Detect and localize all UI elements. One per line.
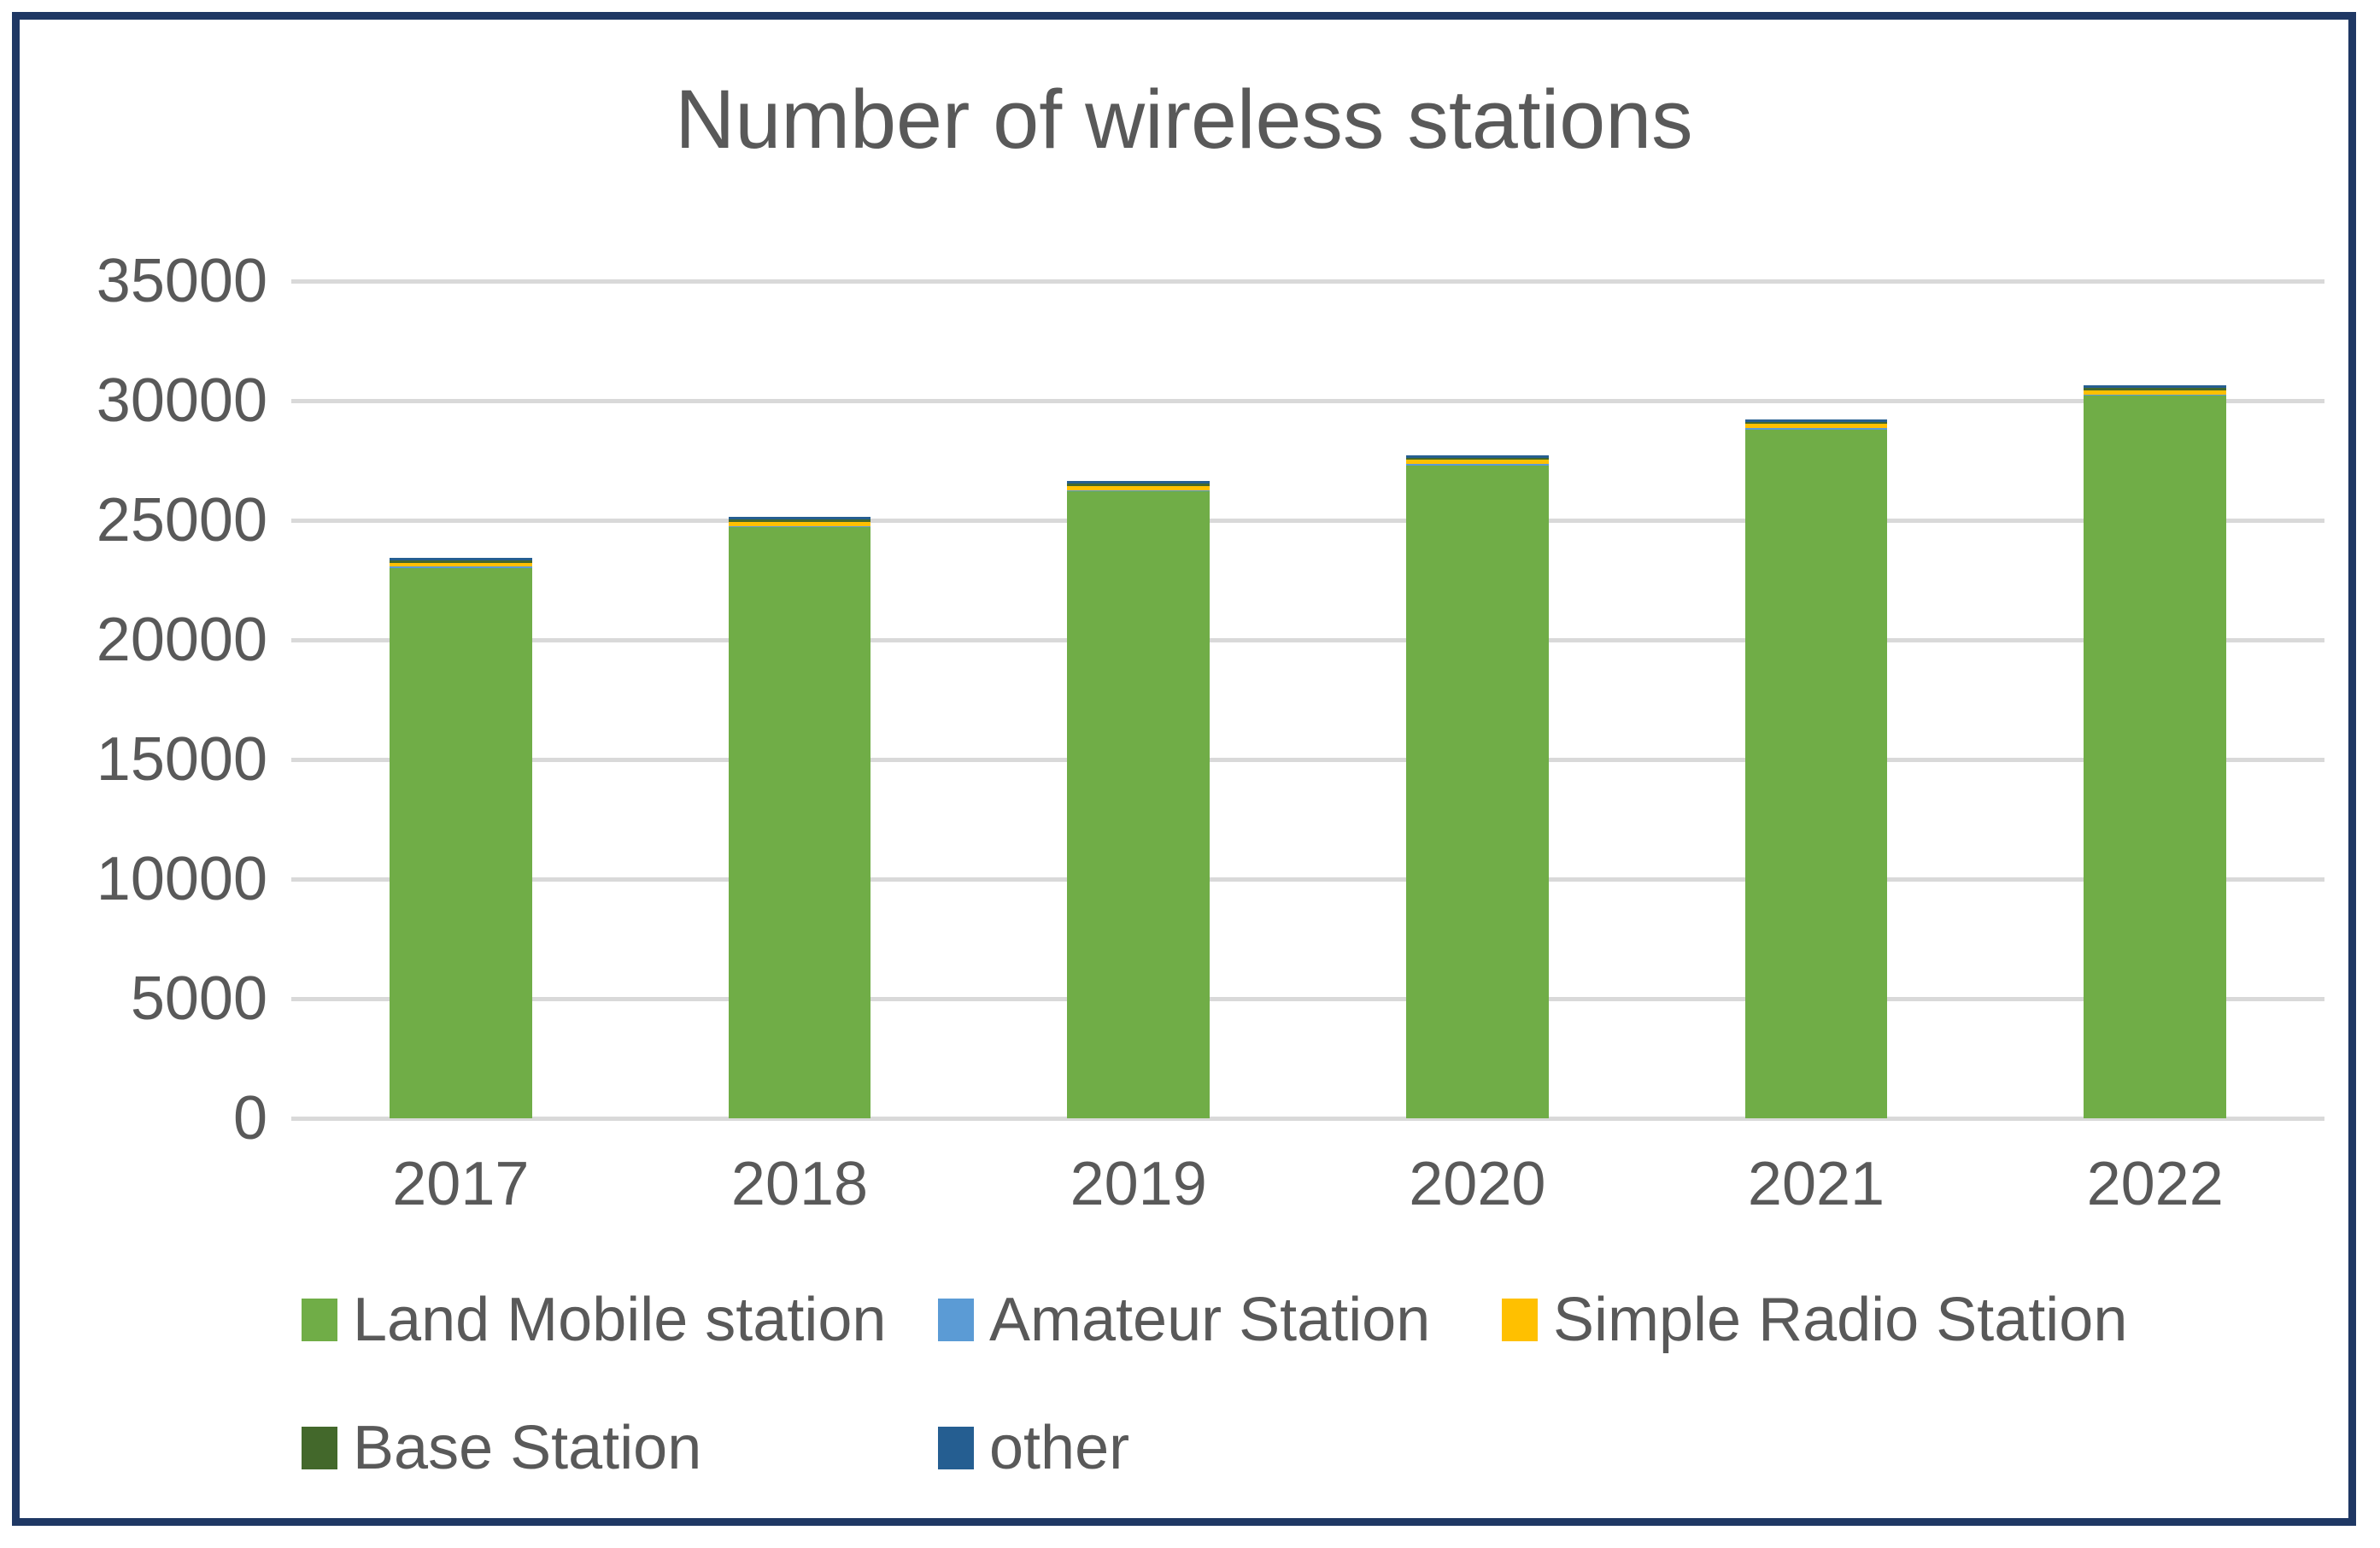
gridline bbox=[291, 519, 2324, 523]
x-axis-tick-label: 2017 bbox=[392, 1149, 529, 1219]
legend-item[interactable]: other bbox=[938, 1417, 1129, 1479]
gridline bbox=[291, 638, 2324, 642]
gridline bbox=[291, 279, 2324, 284]
legend-item[interactable]: Base Station bbox=[302, 1417, 701, 1479]
y-axis-tick-label: 0 bbox=[71, 1083, 267, 1153]
y-axis-tick-label: 10000 bbox=[71, 844, 267, 914]
bar-stack[interactable] bbox=[390, 558, 532, 1118]
y-axis-tick-label: 5000 bbox=[71, 964, 267, 1034]
x-axis-tick-label: 2018 bbox=[731, 1149, 868, 1219]
y-axis-tick-label: 20000 bbox=[71, 605, 267, 675]
y-axis-tick-label: 35000 bbox=[71, 246, 267, 316]
gridline bbox=[291, 1117, 2324, 1121]
bar-stack[interactable] bbox=[1067, 481, 1210, 1118]
legend-color-swatch bbox=[938, 1427, 974, 1469]
legend-item[interactable]: Amateur Station bbox=[938, 1289, 1430, 1351]
legend-label: Base Station bbox=[353, 1417, 701, 1479]
legend-label: Simple Radio Station bbox=[1553, 1289, 2127, 1351]
bar-segment[interactable] bbox=[2084, 396, 2226, 1118]
bar-stack[interactable] bbox=[1745, 419, 1888, 1118]
bar-segment[interactable] bbox=[390, 568, 532, 1118]
gridline bbox=[291, 399, 2324, 403]
chart-legend: Land Mobile stationAmateur StationSimple… bbox=[302, 1289, 2266, 1545]
legend-color-swatch bbox=[302, 1299, 337, 1341]
plot-area bbox=[291, 281, 2324, 1118]
bar-segment[interactable] bbox=[1406, 466, 1549, 1118]
legend-color-swatch bbox=[938, 1299, 974, 1341]
legend-color-swatch bbox=[302, 1427, 337, 1469]
x-axis-tick-label: 2020 bbox=[1409, 1149, 1545, 1219]
gridline bbox=[291, 758, 2324, 762]
legend-row: Base Stationother bbox=[302, 1417, 2266, 1545]
x-axis-tick-label: 2022 bbox=[2087, 1149, 2224, 1219]
gridline bbox=[291, 997, 2324, 1001]
legend-color-swatch bbox=[1502, 1299, 1538, 1341]
legend-label: Land Mobile station bbox=[353, 1289, 886, 1351]
chart-frame: Number of wireless stations 050001000015… bbox=[12, 12, 2356, 1526]
bar-stack[interactable] bbox=[1406, 455, 1549, 1118]
gridline bbox=[291, 877, 2324, 882]
legend-item[interactable]: Land Mobile station bbox=[302, 1289, 886, 1351]
bar-stack[interactable] bbox=[729, 517, 871, 1118]
bar-stack[interactable] bbox=[2084, 385, 2226, 1118]
legend-label: Amateur Station bbox=[989, 1289, 1430, 1351]
legend-item[interactable]: Simple Radio Station bbox=[1502, 1289, 2127, 1351]
chart-canvas: Number of wireless stations 050001000015… bbox=[20, 20, 2348, 1518]
y-axis-tick-label: 30000 bbox=[71, 366, 267, 436]
chart-title: Number of wireless stations bbox=[20, 76, 2348, 163]
x-axis-tick-label: 2021 bbox=[1748, 1149, 1885, 1219]
bar-segment[interactable] bbox=[1067, 491, 1210, 1118]
legend-row: Land Mobile stationAmateur StationSimple… bbox=[302, 1289, 2266, 1417]
x-axis-tick-label: 2019 bbox=[1070, 1149, 1207, 1219]
y-axis-tick-label: 25000 bbox=[71, 485, 267, 555]
legend-label: other bbox=[989, 1417, 1129, 1479]
bar-segment[interactable] bbox=[1745, 430, 1888, 1118]
y-axis-tick-label: 15000 bbox=[71, 724, 267, 795]
bar-segment[interactable] bbox=[729, 527, 871, 1118]
